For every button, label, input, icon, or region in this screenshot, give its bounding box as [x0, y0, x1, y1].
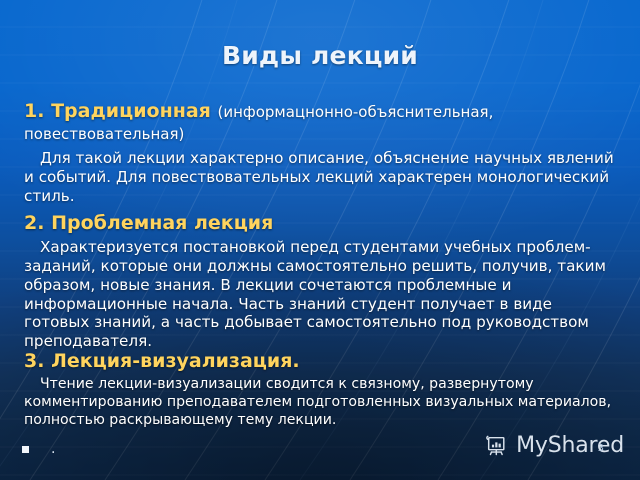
page-number: 3 [598, 443, 604, 454]
bottom-bullet-row: . [22, 442, 55, 456]
section-2-title: Проблемная лекция [51, 212, 273, 234]
slide-content: Виды лекций 1. Традиционная (информацнон… [0, 0, 640, 480]
section-2-heading: 2. Проблемная лекция [24, 212, 622, 234]
section-problem-lecture: 2. Проблемная лекция Характеризуется пос… [24, 212, 622, 351]
section-3-heading: 3. Лекция-визуализация. [24, 350, 622, 372]
section-1-body: Для такой лекции характерно описание, об… [24, 149, 622, 206]
section-3-number: 3. [24, 350, 44, 372]
section-3-title: Лекция-визуализация. [51, 350, 300, 372]
section-1-heading: 1. Традиционная (информацнонно-объясните… [24, 100, 622, 144]
presentation-chart-icon [484, 433, 509, 458]
watermark-label: MyShared [516, 433, 624, 458]
section-1-number: 1. [24, 100, 44, 122]
bullet-trailing-text: . [51, 442, 55, 456]
section-traditional: 1. Традиционная (информацнонно-объясните… [24, 100, 622, 206]
section-3-body: Чтение лекции-визуализации сводится к св… [24, 376, 622, 429]
section-1-title: Традиционная [51, 100, 211, 122]
section-visualization-lecture: 3. Лекция-визуализация. Чтение лекции-ви… [24, 350, 622, 429]
section-2-number: 2. [24, 212, 44, 234]
page-title: Виды лекций [0, 41, 640, 70]
presentation-slide: Виды лекций 1. Традиционная (информацнон… [0, 0, 640, 480]
square-bullet-icon [22, 446, 29, 453]
section-2-body: Характеризуется постановкой перед студен… [24, 238, 622, 351]
